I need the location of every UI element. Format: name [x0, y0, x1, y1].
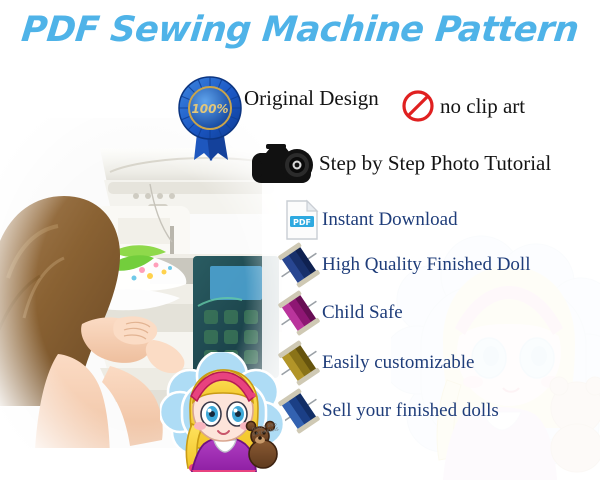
- prohibition-icon: [396, 86, 440, 126]
- feature-label-instant-download: Instant Download: [322, 209, 458, 231]
- feature-label-photo-tutorial: Step by Step Photo Tutorial: [319, 151, 551, 176]
- feature-child-safe: Child Safe: [276, 290, 403, 336]
- feature-label-high-quality: High Quality Finished Doll: [322, 254, 530, 276]
- thread-spool-icon: [276, 242, 322, 288]
- feature-sell-dolls: Sell your finished dolls: [276, 388, 499, 434]
- feature-customizable: Easily customizable: [276, 340, 474, 386]
- page-title: PDF Sewing Machine Pattern: [0, 10, 600, 50]
- feature-high-quality: High Quality Finished Doll: [276, 242, 530, 288]
- promo-graphic: PDF Sewing Machine Pattern: [0, 0, 600, 480]
- feature-original-design: Original Design: [244, 86, 379, 111]
- pdf-icon-label: PDF: [293, 218, 311, 227]
- camera-icon: [249, 140, 319, 186]
- feature-label-original-design: Original Design: [244, 86, 379, 111]
- feature-no-clip-art: no clip art: [396, 86, 525, 126]
- ribbon-badge-icon: 100%: [172, 70, 248, 164]
- feature-label-child-safe: Child Safe: [322, 302, 403, 324]
- feature-label-sell-dolls: Sell your finished dolls: [322, 400, 499, 422]
- feature-label-customizable: Easily customizable: [322, 352, 474, 374]
- doll-with-teddy-bear-logo: [160, 352, 288, 472]
- feature-label-no-clip-art: no clip art: [440, 94, 525, 119]
- thread-spool-icon: [276, 290, 322, 336]
- badge-percent-text: 100%: [191, 102, 228, 116]
- feature-instant-download: PDF Instant Download: [282, 198, 458, 242]
- feature-photo-tutorial: Step by Step Photo Tutorial: [249, 140, 551, 186]
- pdf-file-icon: PDF: [282, 198, 322, 242]
